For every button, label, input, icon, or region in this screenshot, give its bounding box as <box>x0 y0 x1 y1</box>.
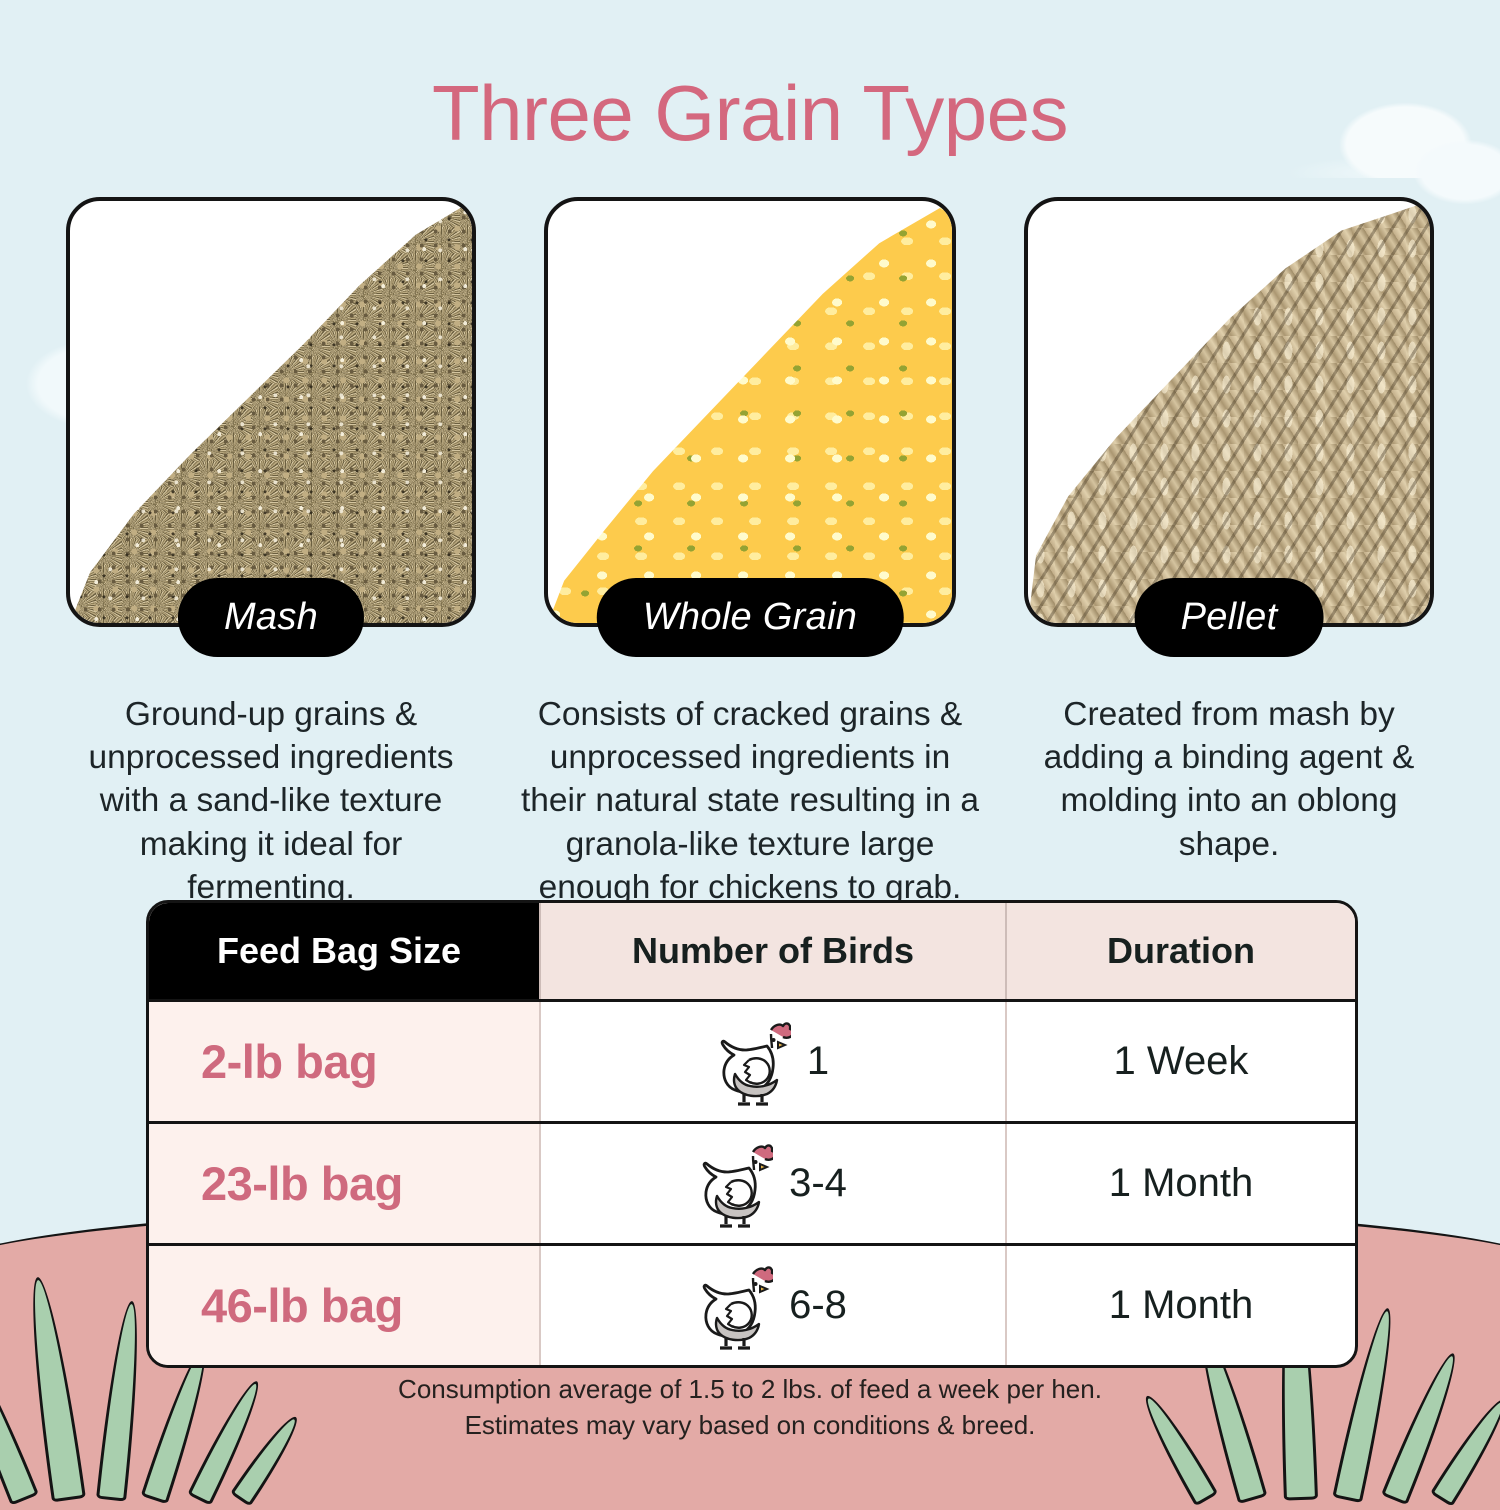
pellet-description: Created from mash by adding a binding ag… <box>1024 693 1434 866</box>
cell-bag-size: 23-lb bag <box>149 1124 539 1243</box>
cell-duration: 1 Month <box>1005 1246 1355 1365</box>
bird-count-value: 3-4 <box>789 1161 847 1206</box>
bird-count-value: 6-8 <box>789 1283 847 1328</box>
grain-type-cards: Mash Ground-up grains & unprocessed ingr… <box>0 197 1500 909</box>
footnote-line-1: Consumption average of 1.5 to 2 lbs. of … <box>0 1372 1500 1408</box>
table-row: 46-lb bag 6-8 1 Month <box>149 1243 1355 1365</box>
cell-number-of-birds: 3-4 <box>539 1124 1005 1243</box>
header-number-of-birds: Number of Birds <box>539 903 1005 999</box>
cell-duration: 1 Week <box>1005 1002 1355 1121</box>
page-title: Three Grain Types <box>0 74 1500 152</box>
chicken-icon <box>717 1016 791 1108</box>
pellet-photo <box>1024 197 1434 627</box>
mash-photo <box>66 197 476 627</box>
footnote: Consumption average of 1.5 to 2 lbs. of … <box>0 1372 1500 1444</box>
table-row: 23-lb bag 3-4 1 Month <box>149 1121 1355 1243</box>
chicken-icon <box>699 1260 773 1352</box>
chicken-icon <box>699 1138 773 1230</box>
cell-bag-size: 46-lb bag <box>149 1246 539 1365</box>
mash-label-badge: Mash <box>178 578 364 657</box>
footnote-line-2: Estimates may vary based on conditions &… <box>0 1408 1500 1444</box>
grain-card-whole-grain: Whole Grain Consists of cracked grains &… <box>544 197 956 909</box>
cell-number-of-birds: 1 <box>539 1002 1005 1121</box>
grain-card-mash: Mash Ground-up grains & unprocessed ingr… <box>66 197 476 909</box>
bird-count-value: 1 <box>807 1039 829 1084</box>
table-header-row: Feed Bag Size Number of Birds Duration <box>149 903 1355 999</box>
header-feed-bag-size: Feed Bag Size <box>149 903 539 999</box>
mash-description: Ground-up grains & unprocessed ingredien… <box>66 693 476 909</box>
whole-grain-description: Consists of cracked grains & unprocessed… <box>515 693 985 909</box>
feed-bag-table: Feed Bag Size Number of Birds Duration 2… <box>146 900 1358 1368</box>
grain-card-pellet: Pellet Created from mash by adding a bin… <box>1024 197 1434 909</box>
cell-number-of-birds: 6-8 <box>539 1246 1005 1365</box>
cell-duration: 1 Month <box>1005 1124 1355 1243</box>
whole-grain-photo <box>544 197 956 627</box>
pellet-label-badge: Pellet <box>1135 578 1324 657</box>
header-duration: Duration <box>1005 903 1355 999</box>
table-row: 2-lb bag 1 1 Week <box>149 999 1355 1121</box>
whole-grain-label-badge: Whole Grain <box>597 578 904 657</box>
cell-bag-size: 2-lb bag <box>149 1002 539 1121</box>
